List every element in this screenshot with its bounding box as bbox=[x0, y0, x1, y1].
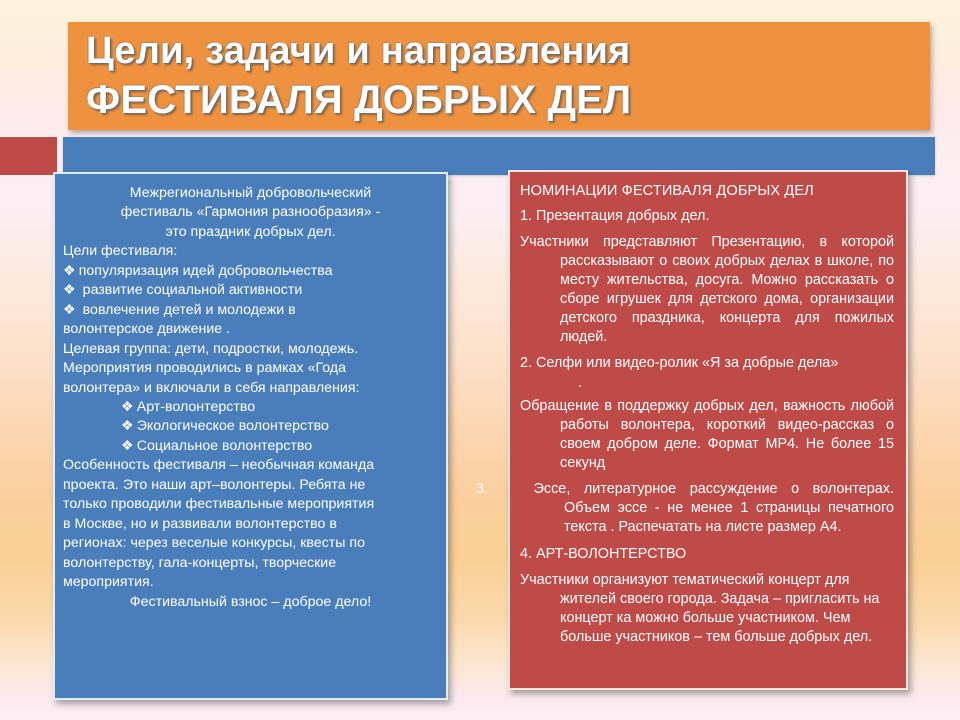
goal-item-label: развитие социальной активности bbox=[79, 282, 303, 298]
direction-item: ❖Экологическое волонтерство bbox=[63, 417, 438, 435]
nomination-body: Участники организуют тематический концер… bbox=[520, 571, 894, 647]
feature-line: волонтерству, гала-концерты, творческие bbox=[63, 554, 438, 572]
nomination-row: 3. Эссе, литературное рассуждение о воло… bbox=[520, 480, 894, 537]
intro-line-3: это праздник добрых дел. bbox=[63, 223, 438, 241]
nomination-number: 1. bbox=[520, 207, 532, 226]
diamond-bullet-icon: ❖ bbox=[63, 262, 76, 280]
diamond-bullet-icon: ❖ bbox=[63, 281, 76, 299]
diamond-bullet-icon: ❖ bbox=[63, 301, 76, 319]
diamond-bullet-icon: ❖ bbox=[121, 417, 134, 435]
nomination-body: Эссе, литературное рассуждение о волонте… bbox=[534, 481, 894, 535]
feature-line: только проводили фестивальные мероприяти… bbox=[63, 495, 438, 513]
feature-line: мероприятия. bbox=[63, 573, 438, 591]
nomination-title-row: 1. Презентация добрых дел. bbox=[520, 207, 894, 226]
feature-line: проекта. Это наши арт–волонтеры. Ребята … bbox=[63, 476, 438, 494]
diamond-bullet-icon: ❖ bbox=[121, 437, 134, 455]
goal-item: ❖ вовлечение детей и молодежи в bbox=[63, 301, 438, 319]
goal-item: ❖популяризация идей добровольчества bbox=[63, 262, 438, 280]
diamond-bullet-icon: ❖ bbox=[121, 398, 134, 416]
feature-line: Особенность фестиваля – необычная команд… bbox=[63, 456, 438, 474]
nominations-heading: НОМИНАЦИИ ФЕСТИВАЛЯ ДОБРЫХ ДЕЛ bbox=[520, 182, 894, 201]
nomination-title-tail: . bbox=[520, 374, 894, 393]
nomination-title: Презентация добрых дел. bbox=[536, 208, 709, 224]
target-group-line: Целевая группа: дети, подростки, молодеж… bbox=[63, 340, 438, 358]
nomination-number: 2. bbox=[520, 354, 532, 373]
title-line-secondary: ФЕСТИВАЛЯ ДОБРЫХ ДЕЛ bbox=[86, 70, 930, 120]
direction-item-label: Экологическое волонтерство bbox=[137, 418, 329, 434]
direction-item: ❖Арт-волонтерство bbox=[63, 398, 438, 416]
goal-item-label: популяризация идей добровольчества bbox=[79, 263, 333, 279]
nomination-title: АРТ-ВОЛОНТЕРСТВО bbox=[536, 546, 686, 562]
direction-item-label: Арт-волонтерство bbox=[137, 399, 255, 415]
intro-line-1: Межрегиональный добровольческий bbox=[63, 184, 438, 202]
closing-line: Фестивальный взнос – доброе дело! bbox=[63, 593, 438, 611]
nomination-title-row: 4. АРТ-ВОЛОНТЕРСТВО bbox=[520, 545, 894, 564]
feature-line: регионах: через веселые конкурсы, квесты… bbox=[63, 534, 438, 552]
direction-item-label: Социальное волонтерство bbox=[137, 438, 312, 454]
goal-item-label: вовлечение детей и молодежи в bbox=[79, 302, 296, 318]
goal-item: ❖ развитие социальной активности bbox=[63, 281, 438, 299]
events-intro-line-1: Мероприятия проводились в рамках «Года bbox=[63, 359, 438, 377]
right-nominations-panel: НОМИНАЦИИ ФЕСТИВАЛЯ ДОБРЫХ ДЕЛ 1. Презен… bbox=[508, 170, 908, 690]
title-banner: Цели, задачи и направления ФЕСТИВАЛЯ ДОБ… bbox=[68, 22, 930, 130]
feature-line: в Москве, но и развивали волонтерство в bbox=[63, 515, 438, 533]
nomination-title: Селфи или видео-ролик «Я за добрые дела» bbox=[536, 355, 838, 371]
events-intro-line-2: волонтера» и включали в себя направления… bbox=[63, 379, 438, 397]
title-line-primary: Цели, задачи и направления bbox=[86, 28, 930, 70]
decorative-bar-red bbox=[0, 137, 57, 175]
nomination-title-row: 2. Селфи или видео-ролик «Я за добрые де… bbox=[520, 354, 894, 373]
nomination-body: Участники представляют Презентацию, в ко… bbox=[520, 233, 894, 347]
goals-continuation: волонтерское движение . bbox=[63, 320, 438, 338]
nomination-number: 4. bbox=[520, 545, 532, 564]
intro-line-2: фестиваль «Гармония разнообразия» - bbox=[63, 203, 438, 221]
left-info-panel: Межрегиональный добровольческий фестивал… bbox=[53, 172, 448, 700]
nomination-body: Обращение в поддержку добрых дел, важнос… bbox=[520, 397, 894, 473]
goals-label: Цели фестиваля: bbox=[63, 242, 438, 260]
direction-item: ❖Социальное волонтерство bbox=[63, 437, 438, 455]
